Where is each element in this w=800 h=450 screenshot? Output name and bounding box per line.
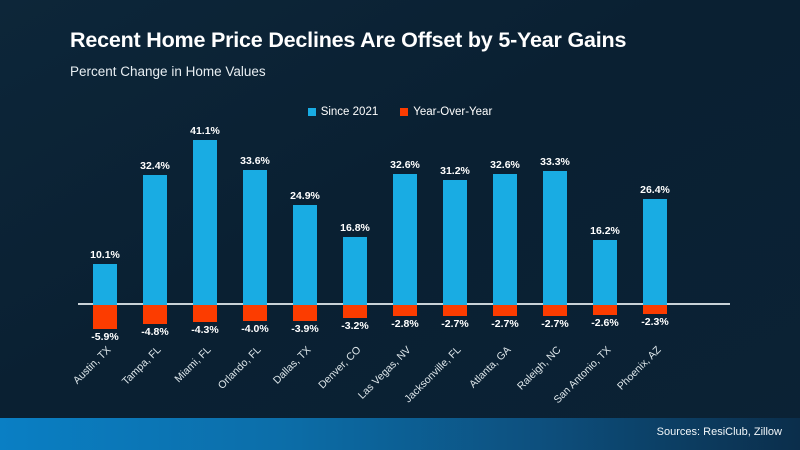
- chart-legend: Since 2021Year-Over-Year: [0, 106, 800, 118]
- bar-year-over-year[interactable]: [343, 305, 367, 318]
- page-subtitle: Percent Change in Home Values: [70, 64, 266, 79]
- bar-since-2021[interactable]: [143, 175, 167, 305]
- bar-since-2021[interactable]: [243, 170, 267, 305]
- chart-plot-area: 10.1%32.4%41.1%33.6%24.9%16.8%32.6%31.2%…: [78, 125, 730, 305]
- bar-value-label: 16.8%: [322, 222, 388, 234]
- bar-value-label: -2.3%: [622, 316, 688, 328]
- footer-bar: Sources: ResiClub, Zillow: [0, 418, 800, 450]
- bar-since-2021[interactable]: [293, 205, 317, 305]
- bar-value-label: 10.1%: [72, 249, 138, 261]
- bar-year-over-year[interactable]: [643, 305, 667, 314]
- category-label: Tampa, FL: [130, 340, 180, 396]
- bar-year-over-year[interactable]: [193, 305, 217, 322]
- bar-since-2021[interactable]: [343, 237, 367, 305]
- bar-year-over-year[interactable]: [243, 305, 267, 321]
- bar-year-over-year[interactable]: [393, 305, 417, 316]
- bar-since-2021[interactable]: [393, 174, 417, 305]
- sources-label: Sources: ResiClub, Zillow: [657, 426, 782, 438]
- bar-value-label: 26.4%: [622, 184, 688, 196]
- category-label: Phoenix, AZ: [630, 340, 680, 396]
- chart-slide: Recent Home Price Declines Are Offset by…: [0, 0, 800, 450]
- bar-since-2021[interactable]: [193, 140, 217, 305]
- legend-label: Since 2021: [321, 106, 379, 118]
- page-title: Recent Home Price Declines Are Offset by…: [70, 28, 626, 53]
- negative-bars-area: -5.9%-4.8%-4.3%-4.0%-3.9%-3.2%-2.8%-2.7%…: [78, 305, 730, 345]
- bar-since-2021[interactable]: [593, 240, 617, 305]
- bar-value-label: 41.1%: [172, 125, 238, 137]
- category-label-text: Austin, TX: [71, 344, 114, 387]
- bar-year-over-year[interactable]: [143, 305, 167, 324]
- category-label: Orlando, FL: [230, 340, 280, 396]
- bar-value-label: 33.3%: [522, 156, 588, 168]
- bar-year-over-year[interactable]: [543, 305, 567, 316]
- bar-year-over-year[interactable]: [493, 305, 517, 316]
- bar-since-2021[interactable]: [493, 174, 517, 305]
- bar-value-label: 32.4%: [122, 160, 188, 172]
- bar-value-label: 33.6%: [222, 155, 288, 167]
- bar-year-over-year[interactable]: [443, 305, 467, 316]
- bar-value-label: 24.9%: [272, 190, 338, 202]
- category-label: Austin, TX: [80, 340, 130, 396]
- legend-swatch-icon: [400, 108, 408, 116]
- legend-item[interactable]: Year-Over-Year: [400, 106, 492, 118]
- category-axis-labels: Austin, TXTampa, FLMiami, FLOrlando, FLD…: [78, 340, 730, 400]
- legend-item[interactable]: Since 2021: [308, 106, 379, 118]
- legend-swatch-icon: [308, 108, 316, 116]
- bar-year-over-year[interactable]: [293, 305, 317, 321]
- legend-label: Year-Over-Year: [413, 106, 492, 118]
- bar-since-2021[interactable]: [93, 264, 117, 305]
- bar-year-over-year[interactable]: [93, 305, 117, 329]
- bar-since-2021[interactable]: [643, 199, 667, 305]
- bar-year-over-year[interactable]: [593, 305, 617, 315]
- bar-value-label: 16.2%: [572, 225, 638, 237]
- bar-since-2021[interactable]: [543, 171, 567, 305]
- bar-since-2021[interactable]: [443, 180, 467, 305]
